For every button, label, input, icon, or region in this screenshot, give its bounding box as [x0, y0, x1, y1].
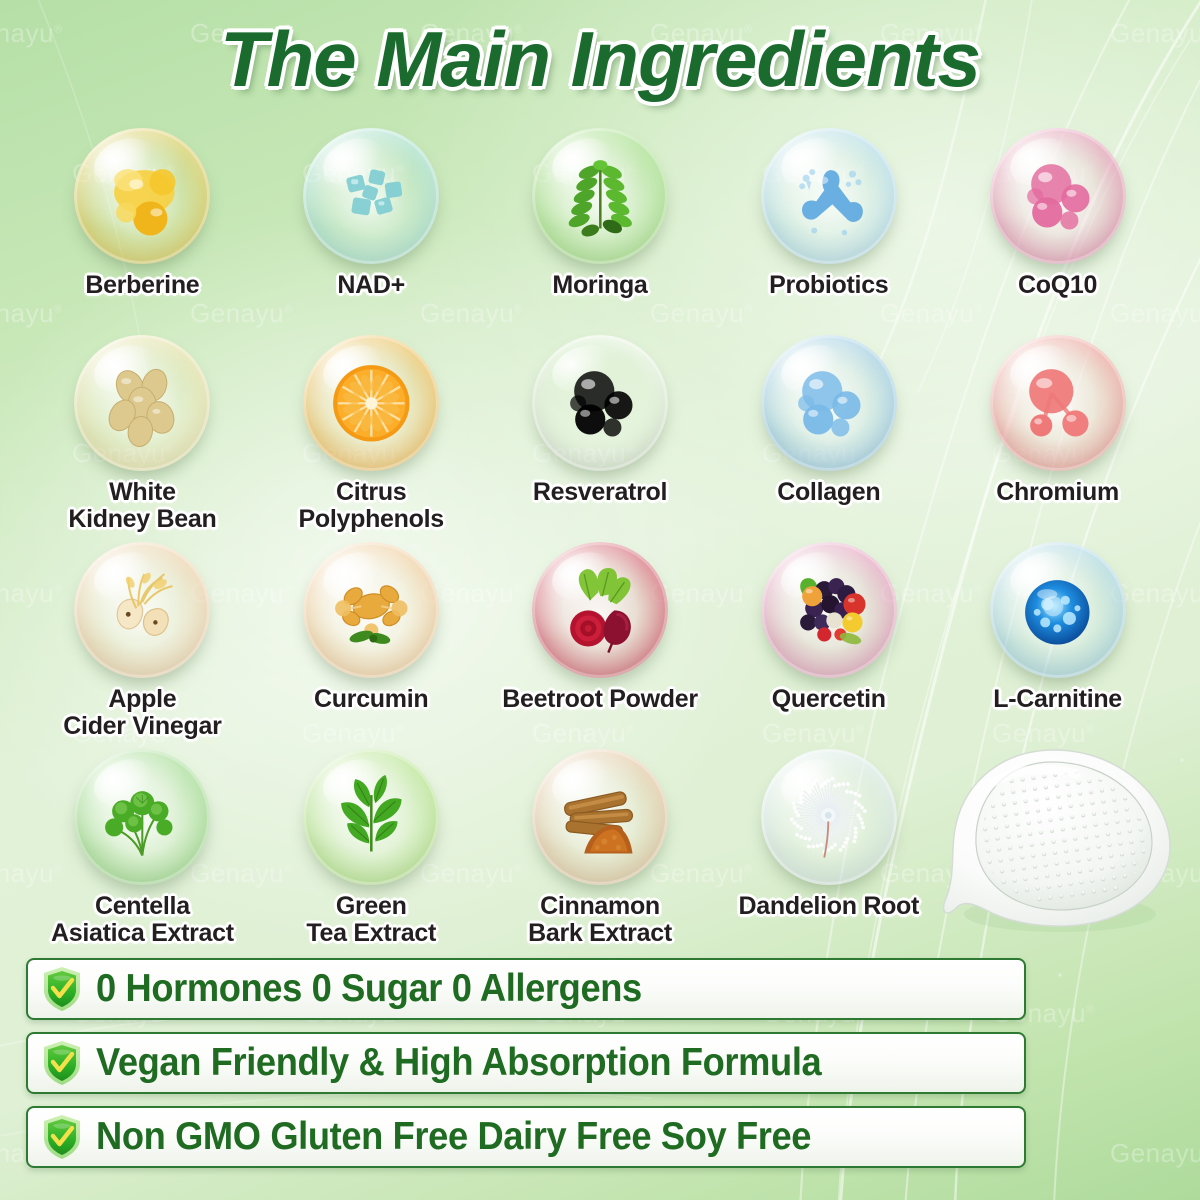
ingredient-cell[interactable]: Dandelion Root	[714, 749, 943, 956]
ingredient-artwork	[303, 335, 439, 471]
shield-check-icon	[42, 966, 82, 1012]
berberine-sphere	[74, 128, 210, 264]
sphere-body	[532, 542, 668, 678]
ingredient-label: White Kidney Bean	[68, 479, 216, 532]
ingredient-label: Resveratrol	[533, 479, 667, 506]
ingredient-cell[interactable]: Beetroot Powder	[486, 542, 715, 749]
quercetin-sphere	[761, 542, 897, 678]
ingredient-cell[interactable]: Green Tea Extract	[257, 749, 486, 956]
ingredient-artwork	[74, 542, 210, 678]
green-tea-extract-sphere	[303, 749, 439, 885]
ingredient-label: L-Carnitine	[993, 686, 1122, 713]
sphere-body	[74, 128, 210, 264]
apple-cider-vinegar-sphere	[74, 542, 210, 678]
ingredient-cell[interactable]: Citrus Polyphenols	[257, 335, 486, 542]
ingredient-label: Citrus Polyphenols	[299, 479, 444, 532]
ingredient-label: Centella Asiatica Extract	[51, 893, 234, 946]
claim-text: Non GMO Gluten Free Dairy Free Soy Free	[96, 1115, 811, 1159]
ingredient-label: Chromium	[996, 479, 1119, 506]
ingredient-artwork	[761, 542, 897, 678]
nad-plus-sphere	[303, 128, 439, 264]
ingredient-cell[interactable]: Chromium	[943, 335, 1172, 542]
ingredient-label: Green Tea Extract	[306, 893, 436, 946]
ingredient-artwork	[761, 335, 897, 471]
ingredient-cell[interactable]: Moringa	[486, 128, 715, 335]
ingredient-artwork	[761, 749, 897, 885]
ingredient-label: Quercetin	[772, 686, 886, 713]
sphere-body	[761, 749, 897, 885]
claim-text: 0 Hormones 0 Sugar 0 Allergens	[96, 967, 642, 1011]
coq10-sphere	[990, 128, 1126, 264]
sphere-body	[990, 335, 1126, 471]
sphere-body	[761, 128, 897, 264]
sphere-body	[303, 749, 439, 885]
ingredient-cell[interactable]: Berberine	[28, 128, 257, 335]
ingredient-cell[interactable]: Collagen	[714, 335, 943, 542]
ingredient-cell[interactable]: Resveratrol	[486, 335, 715, 542]
sphere-body	[532, 335, 668, 471]
ingredient-label: Berberine	[85, 272, 199, 299]
shield-check-icon	[42, 1040, 82, 1086]
ingredient-cell[interactable]: Centella Asiatica Extract	[28, 749, 257, 956]
beetroot-powder-sphere	[532, 542, 668, 678]
shield-check-icon	[42, 1114, 82, 1160]
curcumin-sphere	[303, 542, 439, 678]
ingredient-cell[interactable]: Curcumin	[257, 542, 486, 749]
citrus-polyphenols-sphere	[303, 335, 439, 471]
page-title: The Main Ingredients	[0, 14, 1200, 105]
ingredient-label: Curcumin	[314, 686, 428, 713]
sphere-body	[990, 542, 1126, 678]
ingredient-label: Collagen	[777, 479, 880, 506]
probiotics-sphere	[761, 128, 897, 264]
sphere-body	[761, 542, 897, 678]
ingredient-artwork	[303, 749, 439, 885]
sphere-body	[990, 128, 1126, 264]
white-kidney-bean-sphere	[74, 335, 210, 471]
cinnamon-bark-sphere	[532, 749, 668, 885]
sphere-body	[303, 335, 439, 471]
infographic-canvas: Genayu®Genayu®Genayu®Genayu®Genayu®Genay…	[0, 0, 1200, 1200]
ingredient-artwork	[532, 128, 668, 264]
sphere-body	[74, 335, 210, 471]
dandelion-root-sphere	[761, 749, 897, 885]
ingredient-cell[interactable]: CoQ10	[943, 128, 1172, 335]
ingredient-label: CoQ10	[1018, 272, 1097, 299]
product-device	[934, 742, 1182, 938]
ingredient-artwork	[303, 542, 439, 678]
chromium-sphere	[990, 335, 1126, 471]
collagen-sphere	[761, 335, 897, 471]
sphere-body	[74, 542, 210, 678]
ingredient-label: Apple Cider Vinegar	[63, 686, 221, 739]
watermark: Genayu®	[1110, 1138, 1200, 1169]
sphere-body	[532, 749, 668, 885]
claim-banner: Non GMO Gluten Free Dairy Free Soy Free	[26, 1106, 1026, 1168]
ingredient-label: Probiotics	[769, 272, 888, 299]
sphere-body	[74, 749, 210, 885]
sphere-body	[303, 542, 439, 678]
ingredient-artwork	[990, 128, 1126, 264]
sphere-body	[761, 335, 897, 471]
resveratrol-sphere	[532, 335, 668, 471]
ingredient-artwork	[761, 128, 897, 264]
ingredient-label: Beetroot Powder	[502, 686, 698, 713]
ingredient-cell[interactable]: Cinnamon Bark Extract	[486, 749, 715, 956]
sphere-body	[303, 128, 439, 264]
ingredient-cell[interactable]: L-Carnitine	[943, 542, 1172, 749]
ingredient-label: Cinnamon Bark Extract	[528, 893, 672, 946]
claim-banner: 0 Hormones 0 Sugar 0 Allergens	[26, 958, 1026, 1020]
ingredient-cell[interactable]: NAD+	[257, 128, 486, 335]
ingredient-artwork	[532, 335, 668, 471]
ingredient-artwork	[990, 542, 1126, 678]
ingredient-cell[interactable]: Probiotics	[714, 128, 943, 335]
ingredient-artwork	[303, 128, 439, 264]
sphere-body	[532, 128, 668, 264]
claims-list: 0 Hormones 0 Sugar 0 Allergens Vegan Fri…	[26, 958, 1026, 1168]
ingredient-artwork	[74, 128, 210, 264]
ingredient-label: Moringa	[552, 272, 647, 299]
ingredient-cell[interactable]: Apple Cider Vinegar	[28, 542, 257, 749]
ingredient-cell[interactable]: White Kidney Bean	[28, 335, 257, 542]
ingredient-label: Dandelion Root	[739, 893, 920, 920]
ingredient-artwork	[74, 335, 210, 471]
claim-text: Vegan Friendly & High Absorption Formula	[96, 1041, 821, 1085]
moringa-sphere	[532, 128, 668, 264]
ingredient-cell[interactable]: Quercetin	[714, 542, 943, 749]
ingredient-artwork	[990, 335, 1126, 471]
centella-asiatica-sphere	[74, 749, 210, 885]
ingredient-artwork	[74, 749, 210, 885]
ingredient-artwork	[532, 542, 668, 678]
ingredient-label: NAD+	[337, 272, 405, 299]
claim-banner: Vegan Friendly & High Absorption Formula	[26, 1032, 1026, 1094]
ingredient-artwork	[532, 749, 668, 885]
l-carnitine-sphere	[990, 542, 1126, 678]
